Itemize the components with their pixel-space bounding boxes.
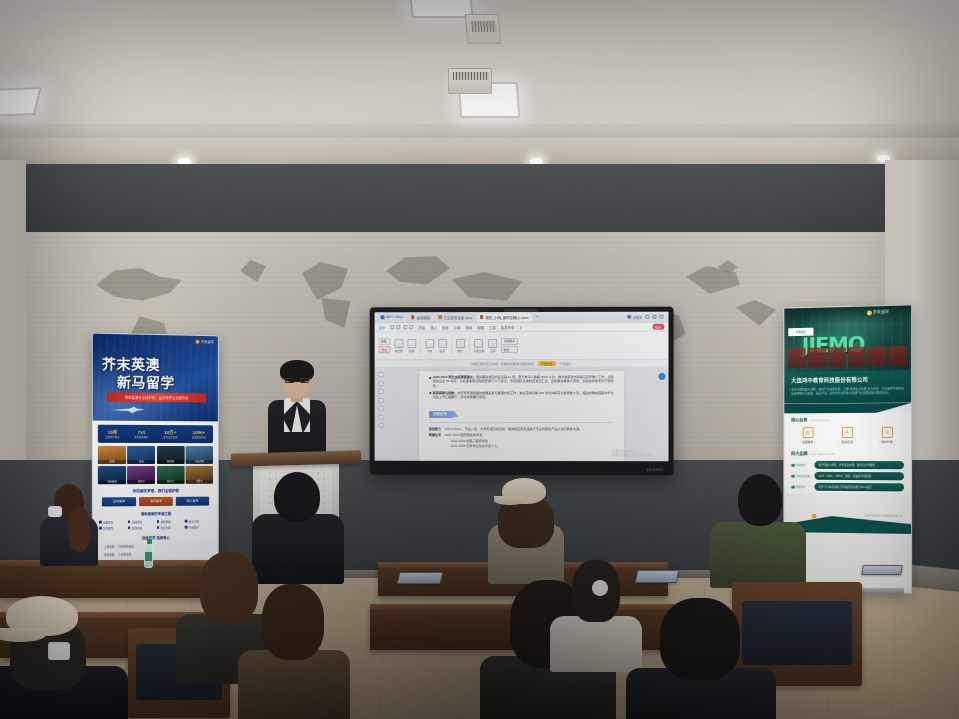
print-icon[interactable] [397,325,401,329]
island-japan [718,260,738,274]
destination-photo: 爱尔兰 [157,465,185,483]
attendee-body [710,522,806,588]
stat-caption: 留学成功案例 [156,436,185,439]
menu-member[interactable]: 会员专享 [501,325,515,330]
process-step: 材料准备 [156,519,183,523]
ribbon-paste-group[interactable]: 粘贴 剪切 [379,338,391,353]
app-tab-label: 简历_小明_最终定稿(1).docx [486,314,529,319]
rollup-banner-left[interactable]: 芥末留学 芥末英澳 新马留学 院校直通车全程护航，留学世界名校更简单 15年 深… [92,333,219,584]
brand-description: 专注于日本名校硕士申请研究生/博士/SGU项目 [815,483,905,492]
row-value: CET-6 590+，专业八级，大学英语四级四级，能熟练运用英语进行专业内容的产… [445,426,582,431]
passport-icon: ▤ [802,428,813,439]
brand-row: 芥末语言培训 JLPT、GRE、TOPIK、雅思、托福等考试培训 [791,472,904,481]
process-step: 文书撰写 [99,526,127,530]
document-side-toolbar[interactable] [377,372,385,428]
continent-southeast-asia [736,300,776,326]
search-icon[interactable]: ⚲ [519,324,522,329]
menu-tools[interactable]: 工具 [489,325,496,330]
save-icon[interactable] [390,325,394,329]
core-business-item: A 语言培训 [830,427,864,444]
process-step: 签证办理 [156,525,183,529]
desk-monitor[interactable] [861,565,903,575]
destination-caption: 新加坡 [157,460,185,464]
trust-row-desc: 无隐形消费 [118,552,131,556]
left-wall-column [0,160,26,500]
window-controls[interactable]: 未登录 [628,314,666,319]
stat-caption: 深耕留学服务 [98,435,127,438]
doc-icon [480,315,483,319]
destination-photo: 澳洲 [127,446,155,464]
row-label: 语言能力 [429,426,441,431]
attendee-hair [738,474,782,526]
core-business-items: ▤ 出国留学 A 语言培训 ⊕ 海外升学 [791,427,904,444]
ribbon-copy[interactable]: 复制 [407,339,416,353]
menu-review[interactable]: 审阅 [465,325,472,330]
document-area[interactable]: 2020-2023 学生会实践部部长：组织策划校园大型活动 12 场，累计参与人… [375,368,669,461]
bottle-label [145,552,152,561]
row-value: 2021-2024 国家励志奖学金 [445,432,482,437]
app-tab-doc-1[interactable]: 卫生院党支部.docx [435,313,475,322]
stage-person [808,347,826,367]
banner-left-service-buttons: 高中留学 本科留学 硕士留学 [93,496,218,506]
water-bottle [144,542,153,568]
attendee-front-khaki [246,584,342,719]
bullet-dot-icon [185,526,187,529]
attendee-ponytail [68,508,90,552]
destination-caption: 澳洲 [127,460,155,464]
dismiss-notice-link[interactable]: 不再提示 [560,361,572,365]
notice-text: 文档已保存至云文档，查看历史版本可随时恢复 [471,361,534,365]
attendee-cap-white [492,476,558,572]
continent-asia-east [452,272,522,308]
account-chip[interactable]: 未登录 [628,314,643,319]
banner-left-stats: 15年 深耕留学服务 7v1 团队服务模式 10万+ 留学成功案例 1000+ … [98,425,213,443]
service-button-undergrad[interactable]: 本科留学 [139,496,173,505]
core-item-label: 出国留学 [791,440,824,444]
brand-description: 留学院校与申请、学生签证办理、留学后升学服务 [815,461,905,469]
trust-row-title: 透明收费 [104,552,114,556]
menu-insert[interactable]: 插入 [430,325,437,330]
stat-item: 1000+ 直通院校资源 [185,430,213,439]
cap-brim [494,496,526,505]
brand-logo-text: 芥末留学 [795,463,805,467]
menu-page[interactable]: 页面 [442,325,449,330]
wps-icon [381,316,384,319]
menu-view[interactable]: 视图 [477,325,484,330]
ribbon-format-painter[interactable]: 格式刷 [394,339,403,353]
attendee-olive-jacket [716,472,800,582]
footer-address: 大连市高新园区七贤岭创业大厦 1 层 [864,514,903,518]
format-painter-icon[interactable] [394,339,403,348]
ai-assistant-icon[interactable] [658,373,665,380]
ribbon-styles[interactable]: 样式 [456,339,465,353]
brand-row: 芥末升学 专注于日本名校硕士申请研究生/博士/SGU项目 [791,483,904,492]
bullet-dot-icon [429,392,431,394]
bullet-dot-icon [128,527,131,530]
maximize-icon[interactable] [652,315,656,319]
ribbon-label: 段落 [440,349,445,353]
desk-monitor[interactable] [397,572,444,584]
core-business-heading-en: Core Business [810,419,829,423]
ribbon-find[interactable]: 查找替换 [474,339,485,353]
decorative-dot-icon [812,514,817,519]
service-button-master[interactable]: 硕士留学 [176,496,209,505]
process-step: 院校定位 [128,520,156,524]
doc-icon [438,315,441,318]
document-bullet: 科研实践与创新：参与导师课题组的数据采集与整理分析工作，独立完成问卷 400 余… [429,391,614,400]
find-icon[interactable] [475,339,484,348]
process-step-label: 前期评估 [103,520,113,524]
destination-caption: 中国香港 [98,480,126,484]
ribbon-separator [420,337,421,355]
pen-icon[interactable] [378,414,383,419]
banner-left-slogan-1: 你的留学梦想，我们全程护航 [93,488,218,494]
process-step-label: 行前指导 [189,525,199,529]
app-tab-label: WPS Office [386,315,403,319]
attendee-front-far-right [640,598,762,719]
stat-item: 15年 深耕留学服务 [98,429,127,438]
desk-monitor[interactable] [635,570,680,583]
trust-row-title: 正规资质 [104,544,114,548]
destination-caption: 加拿大 [186,479,213,483]
app-tab-label: 稻壳模板 [417,315,430,320]
minimize-icon[interactable] [645,315,649,319]
app-ribbon[interactable]: 粘贴 剪切 格式刷 复制 字体 段落 [375,332,669,360]
copy-icon[interactable] [407,339,416,348]
company-name: 大连鸿中教育科技股份有限公司 [791,375,904,384]
ribbon-select[interactable]: 选择 [488,339,497,353]
attendee-body [550,616,642,672]
banner-left-hero: 芥末留学 芥末英澳 新马留学 院校直通车全程护航，留学世界名校更简单 [93,334,218,422]
bottle-cap [147,539,152,544]
watermark-line-2: 转到"设置"以激活 Windows。 [612,454,624,459]
continent-greenland [240,260,266,282]
trust-row: 正规资质 持牌机构备案 [101,542,210,550]
windows-activation-watermark: 激活 Windows 转到"设置"以激活 Windows。 [612,449,624,458]
cloud-save-notice[interactable]: 文档已保存至云文档，查看历史版本可随时恢复 开通会员 不再提示 [375,360,669,368]
banner-left-photo-grid: 英国 澳洲 新加坡 马来西亚 中国香港 新西兰 爱尔兰 加拿大 [98,446,213,484]
process-step-label: 文书撰写 [103,526,113,530]
projector-mount [465,14,502,44]
bullet-dot-icon [99,527,102,530]
undo-icon[interactable] [403,325,407,329]
bullet-dot-icon [99,521,102,524]
ribbon-label: 样式 [458,349,463,353]
outline-icon[interactable] [378,389,383,394]
ribbon-separator [469,337,470,355]
document-bullet: 2020-2023 学生会实践部部长：组织策划校园大型活动 12 场，累计参与人… [429,375,614,388]
banner-left-logo: 芥末留学 [195,339,214,344]
ruler-icon[interactable] [378,372,383,377]
attendee-hair [660,598,740,680]
comment-icon[interactable] [378,381,383,386]
banner-left-slogan-2: 清晰透明的申请之路 [93,510,218,516]
glasses-icon [285,378,309,383]
bullet-dot-icon [185,520,187,523]
continent-asia-central [686,266,740,296]
process-step-label: 院校定位 [132,520,142,524]
continent-north-america [96,268,182,308]
destination-photo: 新西兰 [127,466,155,484]
attendee-front-cap [0,596,120,719]
process-step-label: 语言考试 [189,519,199,523]
stat-caption: 团队服务模式 [127,435,156,438]
upgrade-member-button[interactable]: 开通会员 [538,361,556,366]
brand-logo: 芥末留学 [791,463,811,467]
bookmark-icon[interactable] [378,397,383,402]
ribbon-cut-chip[interactable]: 剪切 [379,347,391,354]
continent-asia-north [386,256,450,290]
app-tab-templates[interactable]: 稻壳模板 [408,313,433,322]
bullet-dot-icon [128,521,131,524]
app-menu-bar[interactable]: 文件 开始 插入 页面 引用 审阅 视图 工具 会员专享 ⚲ 保存 [375,323,669,332]
brand-mark-icon [866,310,871,315]
face-mask [48,642,70,660]
brands-heading-cn: 四大品牌 [791,451,807,457]
bullet-body: 参与导师课题组的数据采集与整理分析工作，独立完成问卷 400 余份并撰写分析报告… [433,391,614,399]
attendee-front-right [556,560,634,664]
process-step-label: 院校申请 [132,526,142,530]
brand-row: 芥末留学 留学院校与申请、学生签证办理、留学后升学服务 [791,461,904,469]
brand-description: JLPT、GRE、TOPIK、雅思、托福等考试培训 [815,472,905,480]
banner-left-subtitle: 院校直通车全程护航，留学世界名校更简单 [107,392,206,402]
destination-photo: 马来西亚 [186,446,213,464]
document-row: 荣誉证书 2021-2024 国家励志奖学金 [429,432,614,437]
process-step: 院校申请 [128,526,156,530]
ribbon-font[interactable]: 字体 [425,339,434,353]
menu-reference[interactable]: 引用 [454,325,461,330]
font-icon[interactable] [425,339,434,348]
document-subrow: 2021-2024 优秀学生风采评选个人。 [451,443,614,448]
banner-left-slogan-3: 选择芥末 选择安心 [93,534,218,541]
face-mask [48,506,62,517]
app-tab-wps-office[interactable]: WPS Office [378,313,407,322]
close-icon[interactable] [659,315,663,319]
bullet-text: 2020-2023 学生会实践部部长：组织策划校园大型活动 12 场，累计参与人… [433,375,614,388]
process-step: 语言考试 [185,519,212,523]
ribbon-assistant-group[interactable]: 文档助手 样式 [501,338,517,354]
airplane-icon [111,405,145,415]
document-section-heading: 技能证书 [429,411,454,418]
ceiling-led-panel-left [0,87,42,117]
banner-left-logo-text: 芥末留学 [201,339,214,344]
banner-left-title-line2: 新马留学 [117,372,175,393]
paragraph-icon[interactable] [438,339,447,348]
app-tab-bar[interactable]: WPS Office 稻壳模板 卫生院党支部.docx 简历_小明_最终定稿(1… [375,312,669,324]
ribbon-more-chip[interactable]: 样式 [501,346,517,353]
destination-caption: 爱尔兰 [157,479,185,483]
stage-people-row [788,346,907,368]
banner-right-top-brand: 芥末留学 [866,309,889,316]
lecture-hall-scene: 芥末留学 芥末英澳 新马留学 院校直通车全程护航，留学世界名校更简单 15年 深… [0,0,959,719]
ribbon-label: 查找替换 [474,349,485,353]
hair-clip [592,580,608,596]
core-item-label: 语言培训 [830,440,864,444]
quick-access-toolbar[interactable] [390,325,413,329]
service-button-highschool[interactable]: 高中留学 [102,497,136,506]
attendee-front-left [42,480,96,560]
avatar [628,315,632,319]
section-divider [429,422,614,423]
bullet-dot-icon [429,377,431,379]
bullet-dot-icon [156,520,158,523]
stage-person [788,348,806,368]
banner-right-hero-photo: 芥末留学 芥末留学 JIEMO [784,305,911,371]
ribbon-paragraph[interactable]: 段落 [438,339,447,353]
document-row: 语言能力 CET-6 590+，专业八级，大学英语四级四级，能熟练运用英语进行专… [429,426,614,431]
banner-right-body: 核心业务 Core Business ▤ 出国留学 A 语言培训 ⊕ 海外升学 … [784,413,911,534]
document-page[interactable]: 2020-2023 学生会实践部部长：组织策划校园大型活动 12 场，累计参与人… [419,371,624,461]
stage-person [828,347,846,367]
more-icon[interactable] [378,423,383,428]
hero-photo-overlay [784,305,911,324]
display-screen[interactable]: WPS Office 稻壳模板 卫生院党支部.docx 简历_小明_最终定稿(1… [375,312,669,462]
stage-person [848,347,866,367]
core-business-item: ▤ 出国留学 [791,427,824,444]
globe-icon: ⊕ [881,427,892,438]
attendee-body [238,650,350,719]
app-tab-label: 卫生院党支部.docx [444,315,472,320]
continent-europe [300,262,348,300]
ribbon-assistant-chip[interactable]: 文档助手 [501,338,517,345]
attendee-hair [262,584,324,660]
banner-right-company-block: 大连鸿中教育科技股份有限公司 专注于国际教育领域，依托产业资源优势，汇聚"留学生… [784,370,911,404]
destination-photo: 英国 [98,446,126,464]
ceiling [0,0,959,150]
destination-photo: 加拿大 [186,465,213,483]
bullet-dot-icon [156,526,158,529]
language-icon: A [842,427,853,438]
menu-start[interactable]: 开始 [419,325,426,330]
trust-row-desc: 持牌机构备案 [118,544,134,548]
stat-caption: 直通院校资源 [185,436,213,439]
process-step-label: 签证办理 [160,525,170,529]
company-description: 专注于国际教育领域，依托产业资源优势，汇聚"留学生态链路"多方资源，为海量学生提… [791,386,904,396]
row-label: 荣誉证书 [429,432,441,437]
new-tab-button[interactable]: + [534,314,541,320]
smart-display-panel[interactable]: seewo WPS Office 稻壳模板 卫生院党支部.docx [370,307,674,476]
ribbon-label: 选择 [490,349,495,353]
stage-person [868,346,886,366]
destination-caption: 新西兰 [127,480,155,484]
stat-item: 10万+ 留学成功案例 [156,430,185,439]
destination-caption: 英国 [98,460,126,464]
stage-person [889,346,907,366]
destination-photo: 中国香港 [98,466,126,484]
podium-top [231,450,361,466]
brands-heading-en: Four Major Brands [810,452,834,456]
ribbon-label: 复制 [409,349,414,353]
process-step-label: 材料准备 [160,519,170,523]
app-tab-doc-active[interactable]: 简历_小明_最终定稿(1).docx [477,312,532,321]
core-business-heading-cn: 核心业务 [791,418,807,424]
ribbon-label: 字体 [427,349,432,353]
stat-item: 7v1 团队服务模式 [127,429,156,438]
banner-right-top-brand-text: 芥末留学 [873,309,889,315]
destination-caption: 马来西亚 [186,460,213,464]
menu-file[interactable]: 文件 [379,325,386,330]
banner-left-process-grid: 前期评估 院校定位 材料准备 语言考试 文书撰写 院校申请 签证办理 行前指导 [93,519,218,530]
select-icon[interactable] [488,339,497,348]
process-step: 前期评估 [99,520,127,524]
core-business-item: ⊕ 海外升学 [870,427,904,444]
display-brand-label: seewo [646,467,663,473]
brand-mark-icon [791,464,794,467]
styles-icon[interactable] [456,339,465,348]
continent-africa [318,298,354,328]
bullet-text: 科研实践与创新：参与导师课题组的数据采集与整理分析工作，独立完成问卷 400 余… [433,391,614,400]
ribbon-paste-chip[interactable]: 粘贴 [379,338,391,345]
template-icon [411,315,414,318]
brand-mark-icon [195,339,199,343]
brands-heading: 四大品牌 Four Major Brands [791,451,904,457]
ceiling-sensor-box [448,68,492,94]
process-step: 行前指导 [185,525,212,529]
ribbon-label: 格式刷 [395,349,403,353]
core-business-heading: 核心业务 Core Business [791,417,904,424]
core-item-label: 海外升学 [870,440,904,444]
attendee-hair [274,472,320,522]
save-button[interactable]: 保存 [652,324,664,330]
ribbon-separator [451,337,452,355]
account-label: 未登录 [633,314,643,319]
redo-icon[interactable] [410,325,414,329]
destination-photo: 新加坡 [157,446,185,464]
upper-wall-band [0,164,959,236]
search-icon[interactable] [378,406,383,411]
